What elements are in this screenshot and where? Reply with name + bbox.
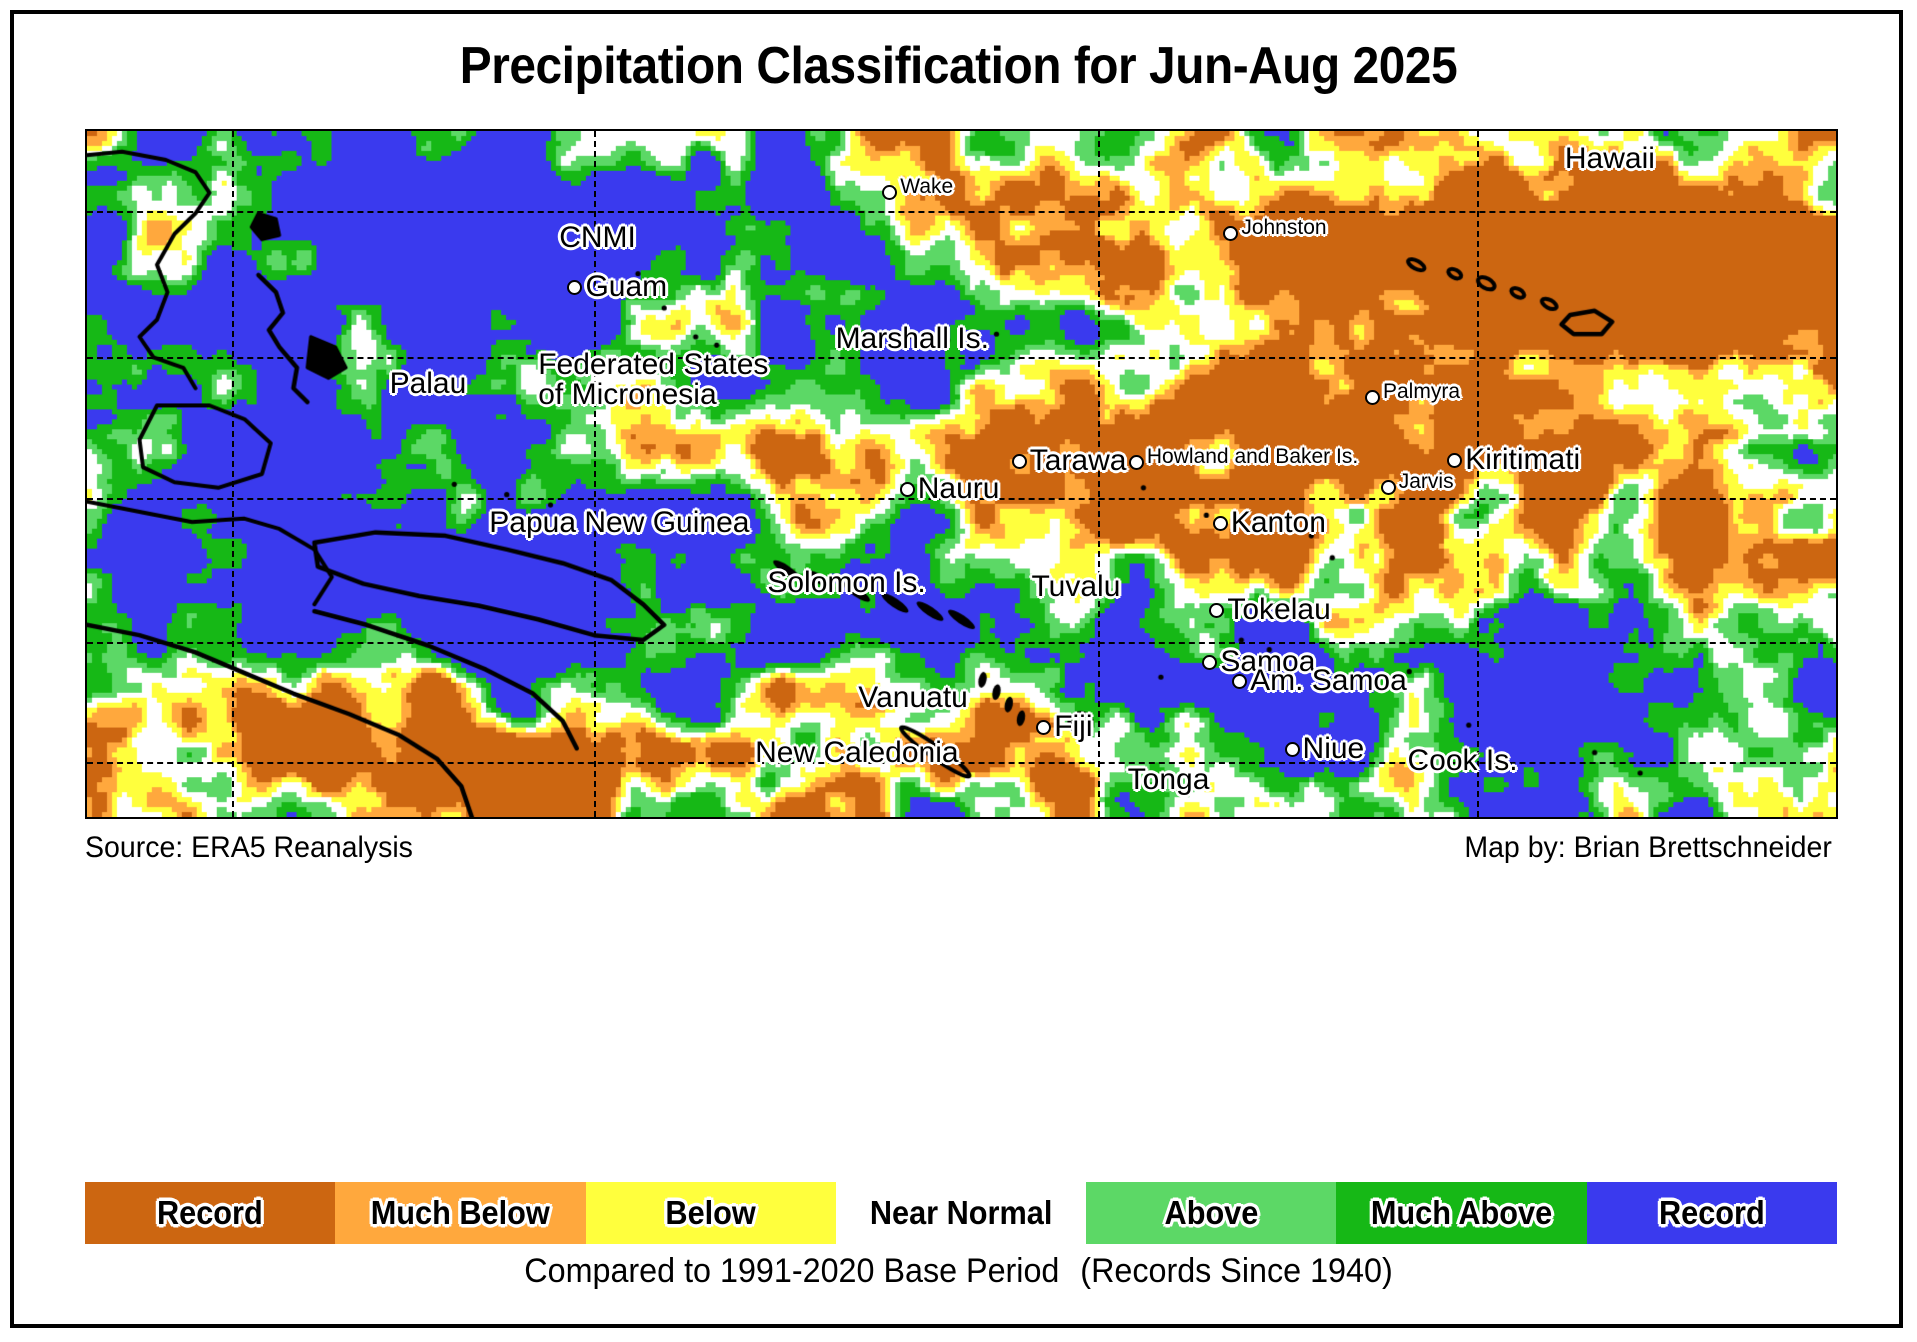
legend-item-record-0: Record [85, 1182, 335, 1244]
legend-item-much-below-1: Much Below [335, 1182, 585, 1244]
legend-item-near-normal-3: Near Normal [836, 1182, 1086, 1244]
legend-label: Record [1659, 1194, 1765, 1232]
records-since-text: (Records Since 1940) [1080, 1252, 1392, 1290]
precipitation-raster [87, 131, 1836, 817]
legend-item-below-2: Below [586, 1182, 836, 1244]
legend-item-much-above-5: Much Above [1336, 1182, 1586, 1244]
base-period-text: Compared to 1991-2020 Base Period [524, 1252, 1059, 1290]
legend-label: Near Normal [870, 1194, 1053, 1232]
source-credit: Source: ERA5 Reanalysis [85, 831, 413, 865]
legend: RecordMuch BelowBelowNear NormalAboveMuc… [85, 1182, 1837, 1244]
map-panel[interactable]: HawaiiWakeJohnstonCNMIGuamMarshall Is.Fe… [85, 129, 1838, 819]
map-page: Precipitation Classification for Jun-Aug… [0, 0, 1917, 1342]
page-title: Precipitation Classification for Jun-Aug… [77, 36, 1841, 96]
author-credit: Map by: Brian Brettschneider [1464, 831, 1832, 865]
legend-label: Much Above [1371, 1194, 1552, 1232]
legend-item-record-6: Record [1587, 1182, 1837, 1244]
legend-label: Much Below [371, 1194, 550, 1232]
legend-label: Below [666, 1194, 756, 1232]
legend-item-above-4: Above [1086, 1182, 1336, 1244]
legend-label: Above [1164, 1194, 1258, 1232]
legend-label: Record [157, 1194, 263, 1232]
legend-caption: Compared to 1991-2020 Base Period(Record… [48, 1252, 1869, 1291]
